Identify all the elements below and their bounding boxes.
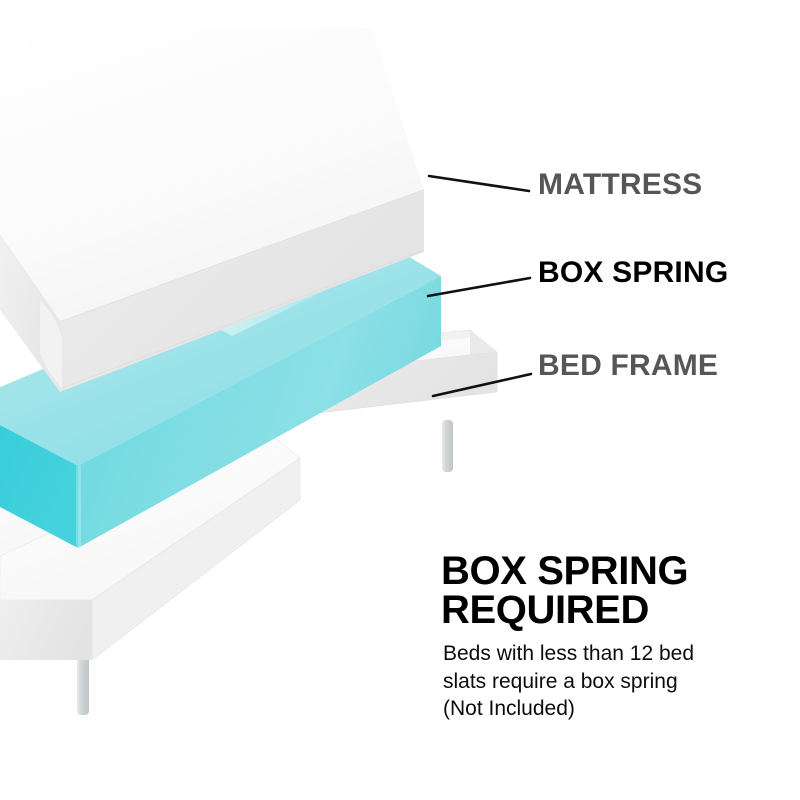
bed-frame-left-rail-side	[0, 600, 92, 660]
label-mattress: MATTRESS	[538, 168, 702, 202]
callout-body: Beds with less than 12 bed slats require…	[443, 640, 771, 724]
leader-line-mattress	[429, 176, 529, 191]
label-bed-frame: BED FRAME	[538, 349, 718, 383]
product-infographic: MATTRESS BOX SPRING BED FRAME BOX SPRING…	[0, 0, 800, 800]
box-spring-corner-edge	[76, 466, 81, 549]
leader-line-box-spring	[428, 278, 530, 296]
label-box-spring: BOX SPRING	[538, 256, 728, 290]
callout-block: BOX SPRING REQUIRED Beds with less than …	[441, 552, 771, 723]
callout-heading: BOX SPRING REQUIRED	[441, 552, 771, 630]
